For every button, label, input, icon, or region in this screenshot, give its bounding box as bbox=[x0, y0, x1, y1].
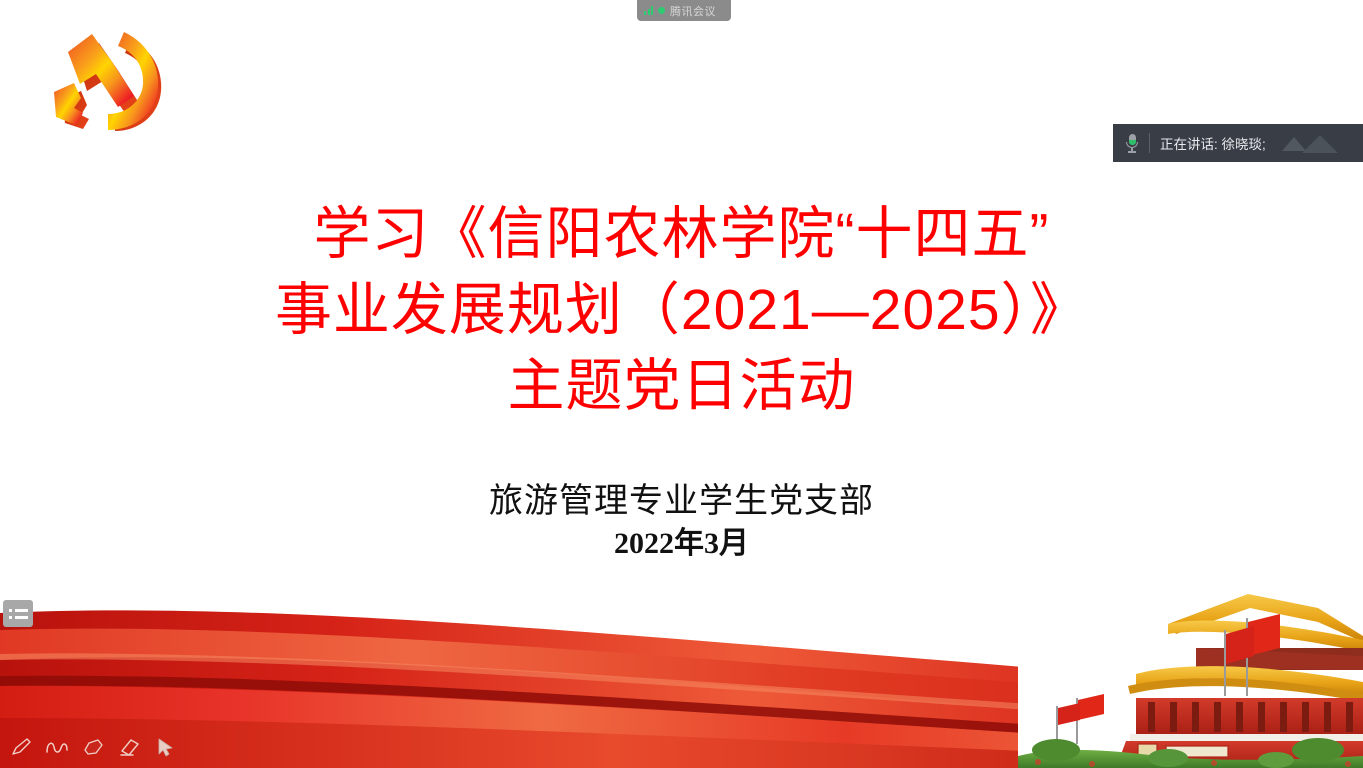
cursor-arrow-icon[interactable] bbox=[152, 735, 178, 759]
title-line-1: 学习《信阳农林学院“十四五” bbox=[0, 196, 1363, 272]
annotation-toolbar[interactable] bbox=[8, 734, 178, 760]
pen-icon[interactable] bbox=[8, 735, 34, 759]
red-ribbon-wave bbox=[0, 568, 1363, 768]
presentation-slide: 学习《信阳农林学院“十四五” 事业发展规划（2021—2025）》 主题党日活动… bbox=[0, 0, 1363, 768]
title-line-2: 事业发展规划（2021—2025）》 bbox=[0, 272, 1363, 348]
current-speaker-text: 正在讲话: 徐晓琰; bbox=[1160, 133, 1266, 153]
organization-name: 旅游管理专业学生党支部 bbox=[0, 480, 1363, 524]
list-menu-icon bbox=[9, 609, 33, 612]
signal-bars-icon bbox=[644, 6, 653, 15]
highlighter-icon[interactable] bbox=[80, 735, 106, 759]
divider bbox=[1149, 133, 1150, 153]
microphone-icon bbox=[1125, 133, 1139, 153]
cpc-hammer-sickle-emblem bbox=[42, 28, 170, 152]
title-line-3: 主题党日活动 bbox=[0, 348, 1363, 424]
slide-subtitle: 旅游管理专业学生党支部 2022年3月 bbox=[0, 480, 1363, 564]
tencent-meeting-badge[interactable]: 腾讯会议 bbox=[637, 0, 731, 21]
tencent-meeting-label: 腾讯会议 bbox=[670, 3, 716, 19]
tiananmen-gate-image bbox=[1018, 578, 1363, 768]
audio-waveform-icon bbox=[1280, 131, 1342, 155]
slide-title: 学习《信阳农林学院“十四五” 事业发展规划（2021—2025）》 主题党日活动 bbox=[0, 196, 1363, 424]
speaking-indicator[interactable]: 正在讲话: 徐晓琰; bbox=[1113, 124, 1363, 162]
bottom-decoration bbox=[0, 568, 1363, 768]
ink-squiggle-icon[interactable] bbox=[44, 735, 70, 759]
eraser-icon[interactable] bbox=[116, 735, 142, 759]
slide-list-button[interactable] bbox=[3, 600, 33, 627]
presentation-date: 2022年3月 bbox=[0, 524, 1363, 564]
status-dot-icon bbox=[658, 7, 665, 14]
